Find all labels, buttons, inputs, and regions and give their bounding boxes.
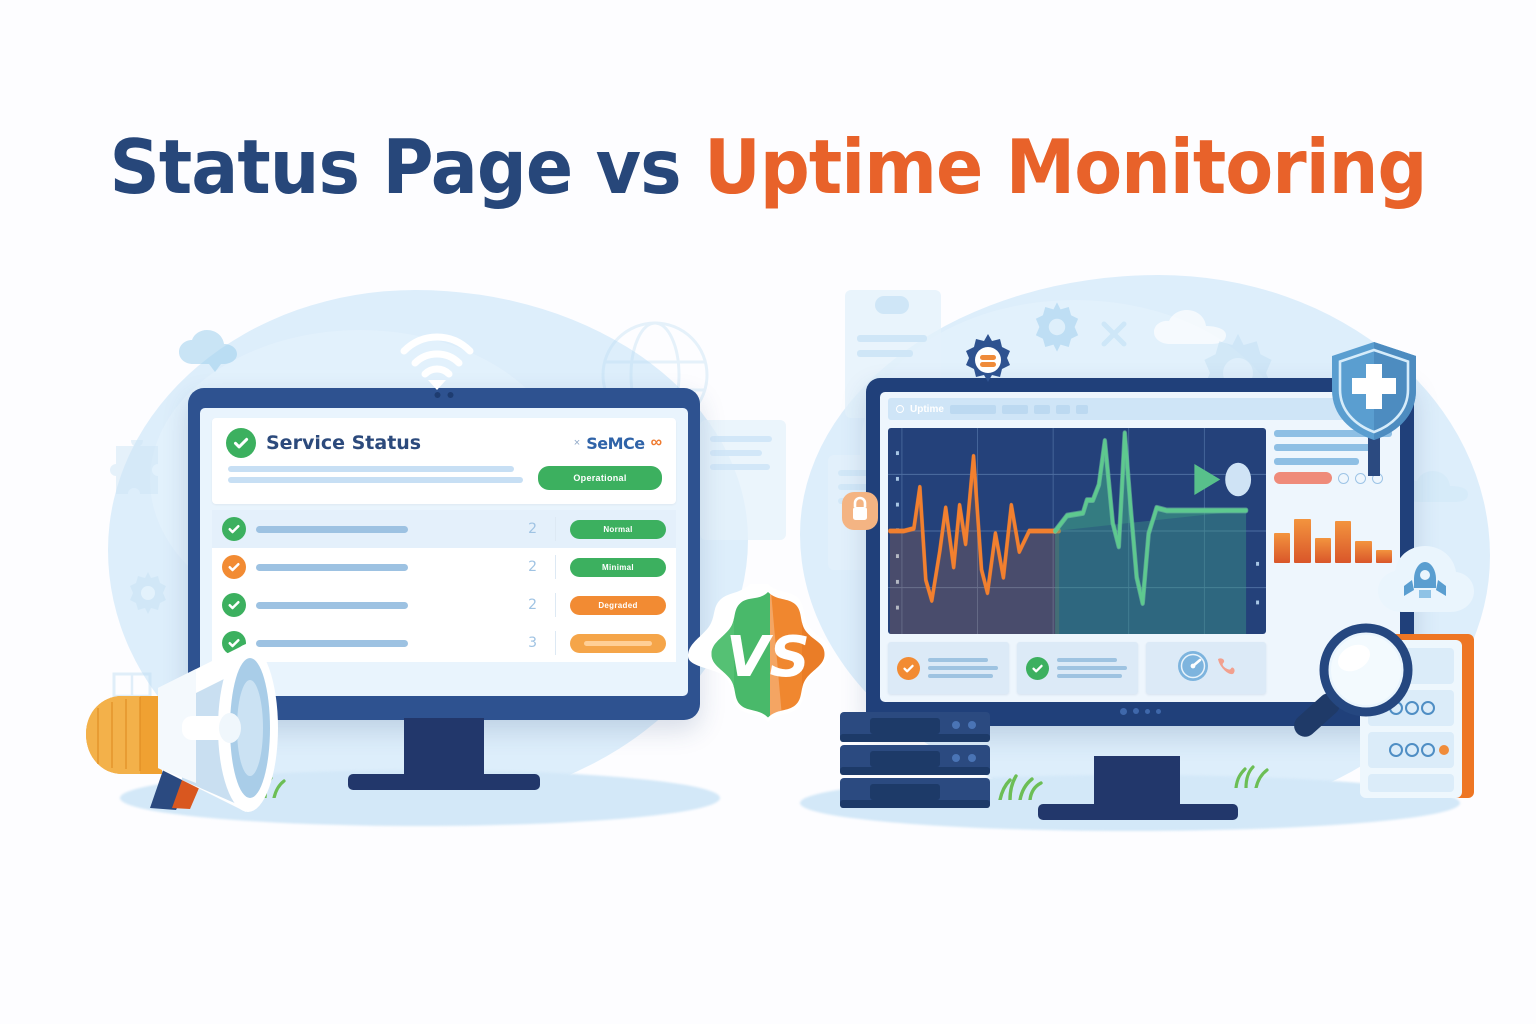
rocket-badge-icon [1372, 528, 1478, 624]
webcam-dots [435, 392, 454, 398]
server-stack-icon [836, 710, 996, 812]
row-count: 2 [528, 559, 541, 575]
marker-circle-icon [1225, 463, 1251, 496]
background-document-line [857, 350, 913, 357]
phone-icon [1214, 655, 1236, 682]
gear-icon [125, 570, 171, 616]
status-page-header-card: Service Status × SeMCe ∞ Operationa [212, 418, 676, 504]
table-row[interactable]: 2 Degraded [212, 586, 676, 624]
response-time-chart [888, 428, 1266, 634]
puzzle-icon [110, 440, 164, 494]
gear-icon [1030, 300, 1084, 354]
settings-badge-icon [960, 332, 1016, 388]
lock-icon [840, 488, 880, 532]
magnifier-icon [1282, 620, 1418, 756]
grass-icon [994, 770, 1046, 800]
monitor-base-left [348, 774, 540, 790]
megaphone-icon [62, 622, 330, 822]
cross-icon [1098, 318, 1130, 350]
row-count: 3 [528, 635, 541, 651]
brand-name: SeMCe [586, 434, 644, 453]
monitor-base-right [1038, 804, 1238, 820]
status-card-ok[interactable] [1017, 642, 1138, 694]
status-page-title: Service Status [266, 432, 421, 454]
status-badge [570, 634, 666, 653]
table-row[interactable]: 2 Minimal [212, 548, 676, 586]
check-circle-icon [226, 428, 256, 458]
illustration-canvas: Status Page vs Uptime Monitoring [0, 0, 1536, 1024]
status-badge: Normal [570, 520, 666, 539]
status-badge: Degraded [570, 596, 666, 615]
card-placeholder-lines [1057, 658, 1129, 678]
title-part-uptime-monitoring: Uptime Monitoring [704, 123, 1426, 211]
status-page-brand: × SeMCe ∞ [574, 434, 662, 453]
status-badge-operational: Operational [538, 466, 662, 490]
dashboard-topbar-label: Uptime [910, 404, 944, 415]
grass-icon [1230, 760, 1276, 788]
card-placeholder-lines [928, 658, 1000, 678]
status-page-header-placeholder [226, 466, 526, 483]
play-triangle-icon [1194, 464, 1220, 495]
status-badge: Minimal [570, 558, 666, 577]
check-circle-icon [222, 593, 246, 617]
background-document-line [710, 464, 770, 470]
vs-badge: VS [684, 580, 852, 740]
check-circle-icon [222, 517, 246, 541]
topbar-segment [950, 405, 996, 414]
background-document-line [857, 335, 927, 342]
brand-dot-icon: ∞ [651, 434, 662, 452]
wifi-icon [398, 330, 476, 392]
shield-cross-icon [1326, 338, 1422, 478]
row-count: 2 [528, 521, 541, 537]
background-document-tab [875, 296, 909, 314]
chart-svg [888, 428, 1266, 634]
vs-label: VS [726, 625, 810, 690]
row-count: 2 [528, 597, 541, 613]
topbar-segment [1034, 405, 1050, 414]
speedometer-icon [1176, 649, 1210, 688]
page-title: Status Page vs Uptime Monitoring [0, 130, 1536, 205]
check-circle-icon [897, 657, 920, 680]
gauge-card[interactable] [1146, 642, 1266, 694]
background-document-line [710, 436, 772, 442]
cloud-icon [175, 330, 249, 372]
topbar-segment [1056, 405, 1070, 414]
coral-bar [1274, 472, 1332, 484]
brand-x-mark: × [574, 437, 580, 449]
check-circle-icon [222, 555, 246, 579]
background-document-line [710, 450, 762, 456]
dashboard-card-row [888, 642, 1266, 694]
topbar-segment [1002, 405, 1028, 414]
monitor-neck-right [1094, 756, 1180, 808]
title-part-status-page: Status Page vs [110, 123, 705, 211]
circle-outline-icon [896, 405, 904, 413]
monitor-neck-left [404, 718, 484, 778]
dashboard-topbar: Uptime [888, 398, 1392, 420]
status-card-warning[interactable] [888, 642, 1009, 694]
check-circle-icon [1026, 657, 1049, 680]
topbar-segment [1076, 405, 1088, 414]
table-row[interactable]: 2 Normal [212, 510, 676, 548]
